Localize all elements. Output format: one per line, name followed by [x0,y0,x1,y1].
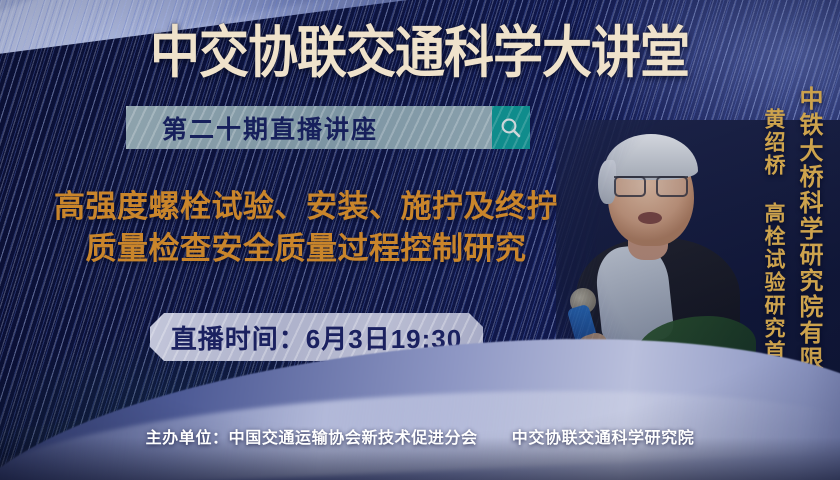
footer-organizer-primary: 主办单位：中国交通运输协会新技术促进分会 [146,430,478,447]
subtitle-bar-background: 第二十期直播讲座 [126,106,492,149]
poster-canvas: 中交协联交通科学大讲堂 第二十期直播讲座 高强度螺栓试验、安装、施拧及终拧 质量… [0,0,840,480]
subtitle-text: 第二十期直播讲座 [162,110,456,146]
footer-organizer-secondary: 中交协联交通科学研究院 [512,430,695,447]
search-icon [499,116,523,140]
vignette-overlay [0,0,840,480]
footer-organizers: 主办单位：中国交通运输协会新技术促进分会 中交协联交通科学研究院 [0,424,840,448]
